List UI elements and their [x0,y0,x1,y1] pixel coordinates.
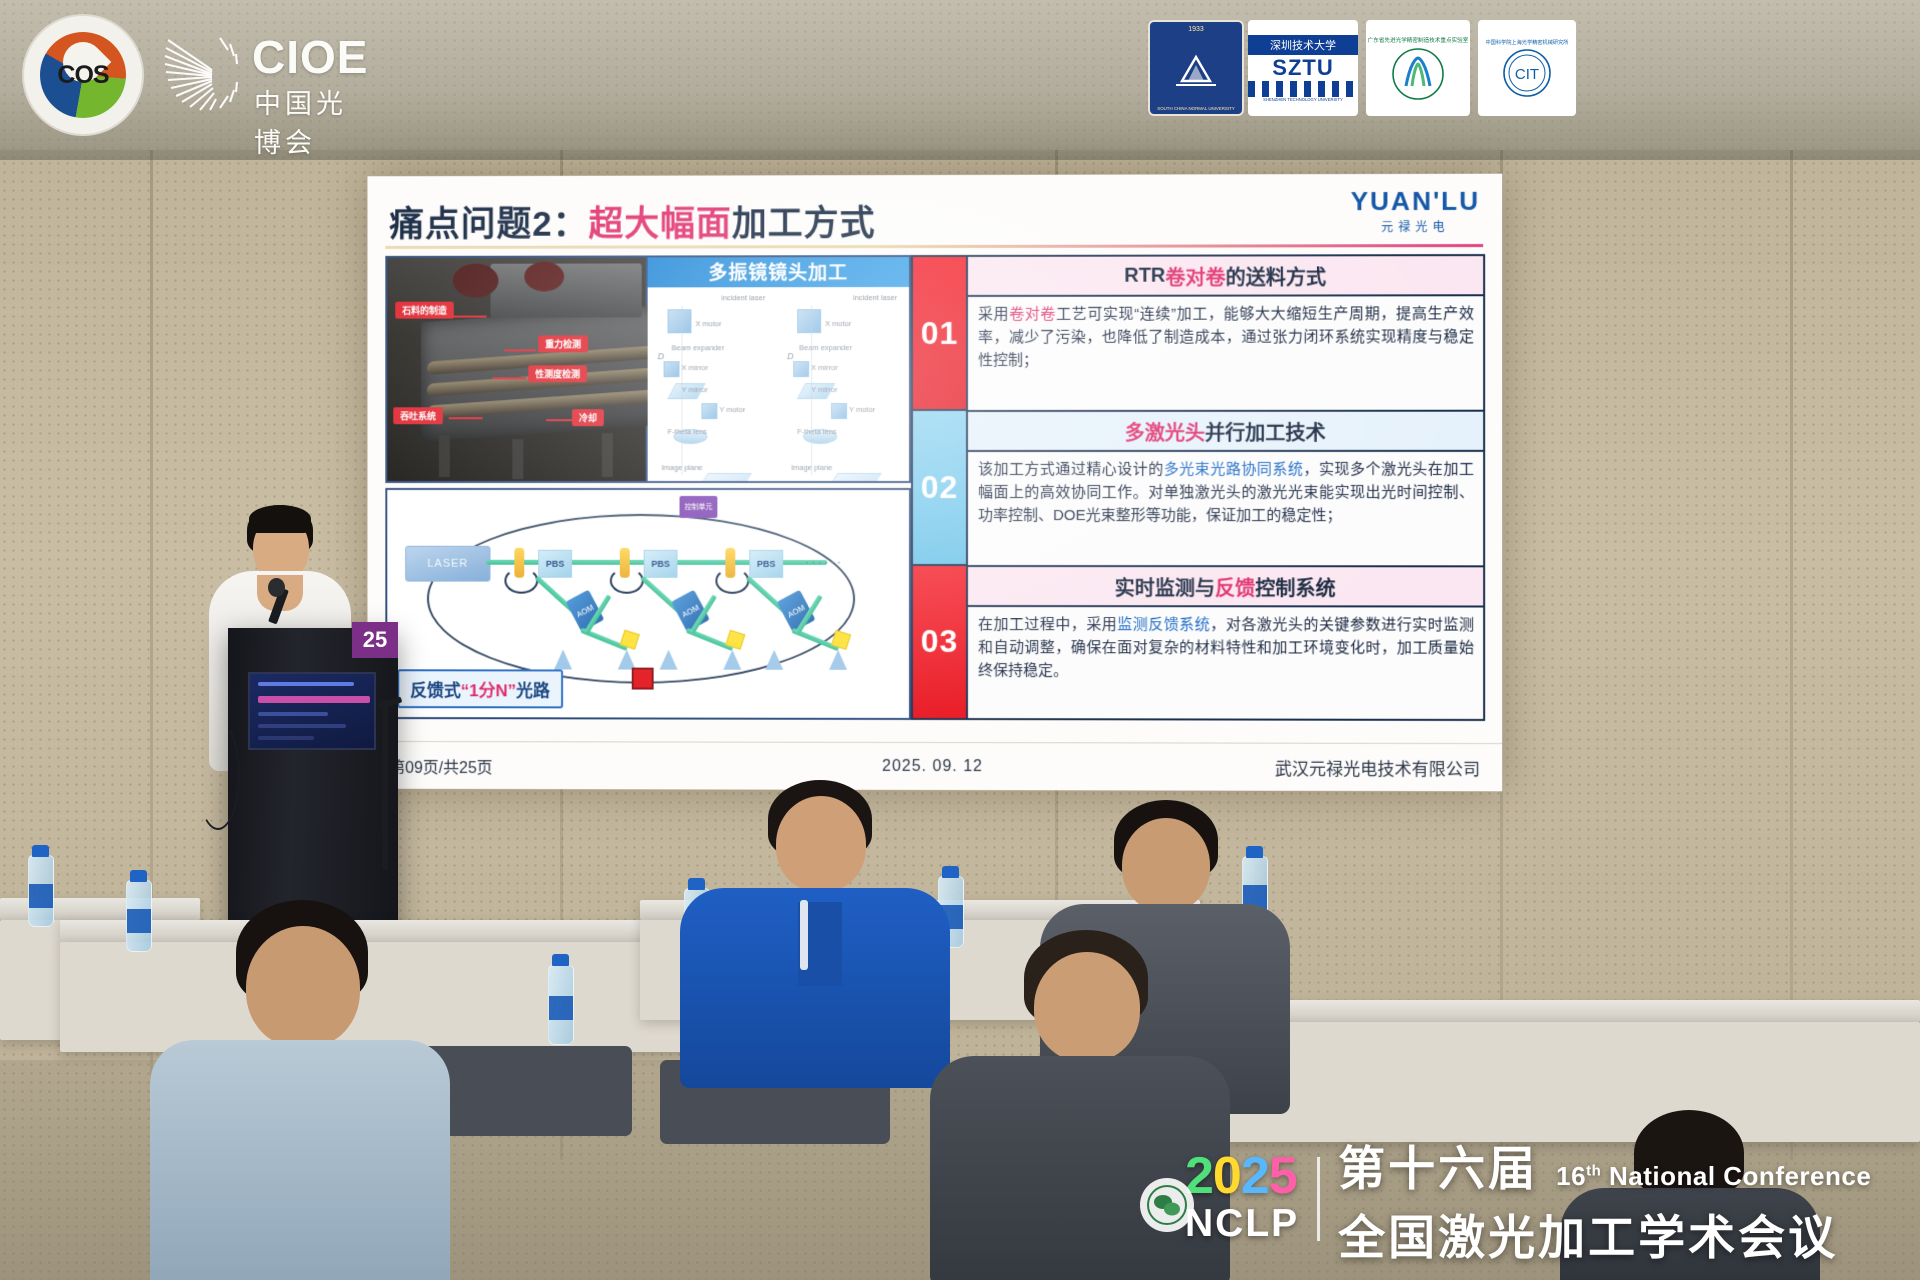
watermark-year-d2: 0 [1213,1147,1241,1205]
university-logo-cit: 中国科学院上海光学精密机械研究所 CIT [1478,20,1576,116]
university-logo-scnu: 1933 SOUTH CHINA NORMAL UNIVERSITY [1148,20,1244,116]
optics-label-xmirror-2: X mirror [811,363,838,372]
block-01-head-post: 的送料方式 [1226,261,1326,290]
block-02-head-post: 并行加工技术 [1205,416,1326,445]
slide-title-highlight: 超大幅面 [588,204,731,243]
watermark-seal-icon [1140,1178,1194,1232]
block-03-head-highlight: 反馈 [1215,572,1255,601]
block-number-01: 01 [911,255,968,409]
feedback-badge-post: 光路 [516,681,550,700]
block-number-03: 03 [911,564,968,720]
feedback-path-badge: 反馈式“1分N”光路 [397,669,563,708]
cioe-name: CIOE [252,30,368,84]
block-01-header: RTR卷对卷的送料方式 [968,254,1485,295]
watermark-divider [1317,1157,1320,1241]
optics-label-incident-2: incident laser [853,293,897,302]
optics-label-beamexp: Beam expander [672,343,725,352]
block-02-head-highlight: 多激光头 [1125,416,1205,445]
watermark-en-sup: th [1586,1162,1601,1179]
cos-acronym: COS [57,61,108,90]
left-visuals-column: 石料的制造 重力检测 性测度检测 吞吐系统 冷却 多振镜镜头加工 [385,255,911,720]
microphone-head [268,578,285,597]
yuanlu-brand-sub: 元禄光电 [1351,218,1480,235]
pbs-2: PBS [644,550,678,578]
cit-emblem-icon: CIT [1500,46,1554,100]
block-02-body: 该加工方式通过精心设计的多光束光路协同系统，实现多个激光头在加工幅面上的高效协同… [968,450,1485,565]
block-03-body-p1: 监测反馈系统 [1117,616,1210,633]
title-divider [385,244,1483,249]
optics-card-header: 多振镜镜头加工 [648,257,909,287]
podium-confidence-monitor [248,672,376,750]
photo-tag-4: 冷却 [572,409,604,426]
water-bottle [28,855,54,927]
slide-company: 武汉元禄光电技术有限公司 [1275,755,1480,781]
sztu-cn: 深圳技术大学 [1248,35,1358,55]
watermark-cn-line2: 全国激光加工学术会议 [1338,1199,1871,1268]
watermark-en-num: 16 [1556,1161,1586,1191]
scnu-year: 1933 [1188,26,1204,33]
slide-page-number: 第09页/共25页 [389,753,492,777]
svg-text:CIT: CIT [1515,66,1539,83]
laser-source-box: LASER [405,546,490,582]
yuanlu-brand-logo: YUAN'LU 元禄光电 [1351,186,1480,235]
photo-tag-2: 性测度检测 [528,365,587,382]
photo-tag-1: 重力检测 [538,335,588,352]
bottle-cap [32,845,49,857]
optics-label-xmotor: X motor [695,319,721,328]
optics-label-xmirror: X mirror [682,363,709,372]
conference-watermark: 2025 NCLP 第十六届 16th National Conference … [1185,1130,1871,1268]
yuanlu-brand-main: YUAN'LU [1351,186,1480,217]
wall-seam [1790,0,1793,1160]
watermark-year-d3: 2 [1241,1147,1269,1205]
block-01-body-p1: 卷对卷 [1009,306,1056,323]
water-bottle [126,880,152,952]
top-logo-banner: COS CIOE 中国光博会 1933 [0,0,1920,150]
optics-diagram: incident laser incident laser X motor X … [648,287,909,481]
block-number-column: 01 02 03 [911,255,968,720]
lanyard [800,900,808,970]
feedback-optical-path-diagram: LASER 控制单元 PBS PBS PBS ······ [385,488,911,720]
projected-slide: 痛点问题2：超大幅面加工方式 YUAN'LU 元禄光电 [367,174,1502,792]
pbs-3: PBS [749,550,783,578]
scnu-en: SOUTH CHINA NORMAL UNIVERSITY [1150,106,1242,111]
bottle-cap [130,870,147,882]
block-01-head-pre: RTR [1124,264,1165,287]
slide-title: 痛点问题2：超大幅面加工方式 [389,195,875,247]
optics-label-ymotor-2: Y motor [849,405,875,414]
optics-label-beamexp-2: Beam expander [799,343,852,352]
path-ellipsis: ······ [805,554,843,569]
optics-label-ftheta-2: F-theta lens [797,427,837,436]
slide-title-part2: 加工方式 [732,204,876,243]
watermark-en-line: 16th National Conference [1556,1161,1871,1192]
block-01-body: 采用卷对卷工艺可实现“连续”加工，能够大大缩短生产周期，提高生产效率，减少了污染… [968,294,1485,410]
slide-title-part1: 痛点问题2： [389,205,588,244]
gdlab-cn: 广东省先进光学精密制造技术重点实验室 [1366,34,1470,44]
cioe-fan-icon [160,30,246,116]
mic-boom [382,700,388,870]
photo-tag-0: 石料的制造 [395,302,454,319]
optics-label-ymirror: Y mirror [682,385,708,394]
optics-label-d-2: D [787,351,793,361]
slide-content-grid: 石料的制造 重力检测 性测度检测 吞吐系统 冷却 多振镜镜头加工 [385,254,1485,721]
photo-tag-3: 吞吐系统 [393,407,443,424]
water-bottle [548,965,574,1045]
wechat-seal-icon [1146,1184,1188,1226]
block-02-header: 多激光头并行加工技术 [968,410,1485,450]
sztu-abbr: SZTU [1272,55,1333,81]
feedback-badge-highlight: “1分N” [461,681,516,700]
block-02-body-p1: 多光束光路协同系统 [1164,461,1304,478]
block-01-head-highlight: 卷对卷 [1165,261,1225,290]
machine-photo: 石料的制造 重力检测 性测度检测 吞吐系统 冷却 [387,257,647,481]
optics-label-ftheta: F-theta lens [668,427,707,436]
audience-member-blue [680,780,950,1080]
watermark-nclp: NCLP [1185,1202,1299,1246]
block-02-body-p0: 该加工方式通过精心设计的 [978,461,1164,478]
content-block-03: 实时监测与反馈控制系统 在加工过程中，采用监测反馈系统，对各激光头的关键参数进行… [968,565,1485,721]
slide-date: 2025. 09. 12 [882,757,983,775]
optics-label-ymotor: Y motor [719,405,745,414]
cit-cn: 中国科学院上海光学精密机械研究所 [1478,37,1576,46]
content-block-01: RTR卷对卷的送料方式 采用卷对卷工艺可实现“连续”加工，能够大大缩短生产周期，… [968,254,1485,410]
optics-label-ymirror-2: Y mirror [811,385,837,394]
cioe-logo: CIOE 中国光博会 [160,26,360,122]
watermark-cn-line1: 第十六届 [1338,1130,1538,1199]
cioe-subtitle: 中国光博会 [254,82,360,160]
block-03-header: 实时监测与反馈控制系统 [968,565,1485,605]
block-number-02: 02 [911,409,968,563]
detector-marker [632,668,654,690]
content-block-02: 多激光头并行加工技术 该加工方式通过精心设计的多光束光路协同系统，实现多个激光头… [968,410,1485,566]
cos-logo: COS [22,14,144,136]
scnu-emblem-icon [1170,45,1222,91]
pbs-1: PBS [538,550,572,578]
watermark-year-d4: 5 [1269,1147,1297,1205]
podium-number-badge: 25 [352,622,398,658]
watermark-en-rest: National Conference [1601,1161,1871,1191]
multi-galvo-diagram-card: 多振镜镜头加工 incident laser incident laser X … [648,257,909,481]
sztu-en: SHENZHEN TECHNOLOGY UNIVERSITY [1248,97,1358,102]
optics-label-xmotor-2: X motor [825,319,851,328]
optics-label-incident: incident laser [721,293,765,302]
block-01-body-p0: 采用 [978,306,1009,323]
bottle-cap [552,954,569,966]
audience-member-front-left [150,900,450,1280]
podium-cable [196,720,240,830]
block-03-head-post: 控制系统 [1255,572,1335,601]
block-03-body-p0: 在加工过程中，采用 [978,616,1117,633]
watermark-year: 2025 [1185,1152,1299,1202]
university-logo-gdlab: 广东省先进光学精密制造技术重点实验室 [1366,20,1470,116]
top-visuals-row: 石料的制造 重力检测 性测度检测 吞吐系统 冷却 多振镜镜头加工 [385,255,911,483]
block-03-head-pre: 实时监测与 [1115,572,1215,601]
conference-photo: COS CIOE 中国光博会 1933 [0,0,1920,1280]
gdlab-emblem-icon [1390,44,1446,102]
control-unit-box: 控制单元 [680,496,718,518]
optics-label-d: D [658,351,664,361]
right-text-column: RTR卷对卷的送料方式 采用卷对卷工艺可实现“连续”加工，能够大大缩短生产周期，… [968,254,1485,721]
block-03-body: 在加工过程中，采用监测反馈系统，对各激光头的关键参数进行实时监测和自动调整，确保… [968,605,1485,721]
university-logo-sztu: 深圳技术大学 SZTU SHENZHEN TECHNOLOGY UNIVERSI… [1248,20,1358,116]
feedback-badge-pre: 反馈式 [410,681,461,700]
